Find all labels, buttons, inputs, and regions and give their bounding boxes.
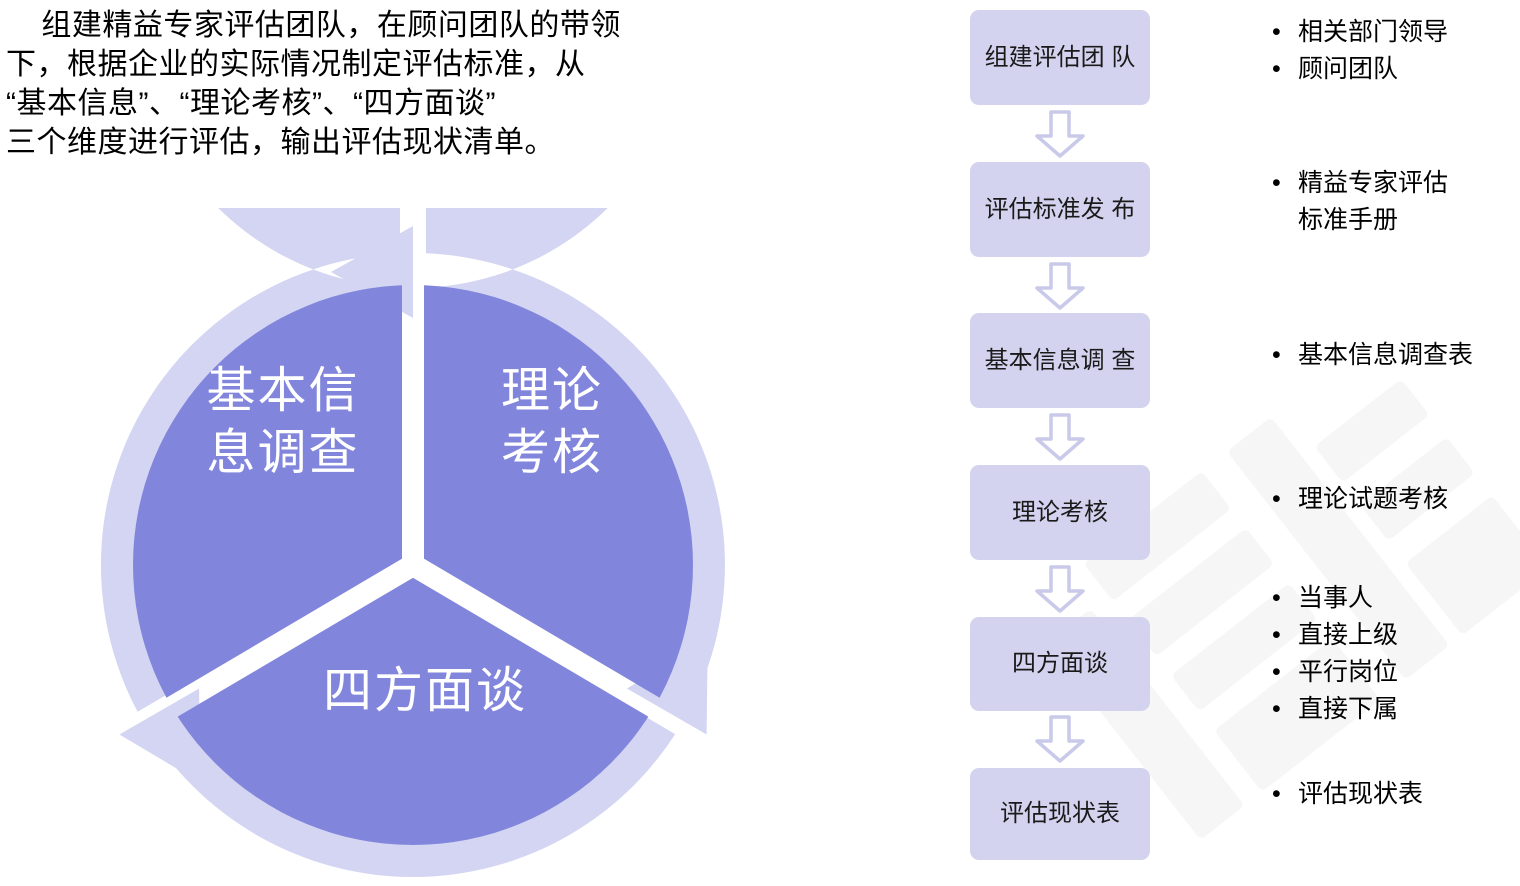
list-item: • 相关部门领导: [1272, 14, 1520, 51]
bullet-icon: •: [1272, 51, 1298, 88]
list-item: • 直接上级: [1272, 617, 1520, 654]
flow-arrow-3-4: [1030, 413, 1090, 461]
list-item: • 理论试题考核: [1272, 481, 1520, 518]
flow-arrow-2-3: [1030, 262, 1090, 310]
flow-arrow-5-6: [1030, 715, 1090, 763]
bullet-group-5: • 当事人 • 直接上级 • 平行岗位 • 直接下属: [1272, 580, 1520, 728]
bullet-icon: •: [1272, 691, 1298, 728]
flow-box-4[interactable]: 理论考核: [970, 465, 1150, 560]
flow-box-3[interactable]: 基本信息调 查: [970, 313, 1150, 408]
flow-box-5[interactable]: 四方面谈: [970, 617, 1150, 711]
bullet-icon: •: [1272, 580, 1298, 617]
list-item: • 直接下属: [1272, 691, 1520, 728]
flow-arrow-1-2: [1030, 110, 1090, 158]
list-item: • 平行岗位: [1272, 654, 1520, 691]
bullet-icon: •: [1272, 481, 1298, 518]
flow-box-2[interactable]: 评估标准发 布: [970, 162, 1150, 257]
bullet-icon: •: [1272, 337, 1298, 374]
list-item: • 评估现状表: [1272, 776, 1520, 813]
bullet-icon: •: [1272, 776, 1298, 813]
list-item: • 基本信息调查表: [1272, 337, 1520, 374]
intro-paragraph: 组建精益专家评估团队，在顾问团队的带领 下，根据企业的实际情况制定评估标准，从 …: [6, 6, 816, 162]
bullet-icon: •: [1272, 165, 1298, 202]
bullet-group-3: • 基本信息调查表: [1272, 337, 1520, 374]
flow-box-6[interactable]: 评估现状表: [970, 768, 1150, 860]
flow-arrow-4-5: [1030, 565, 1090, 613]
bullet-icon: •: [1272, 654, 1298, 691]
slide-canvas: 组建精益专家评估团队，在顾问团队的带领 下，根据企业的实际情况制定评估标准，从 …: [0, 0, 1520, 886]
bullet-group-4: • 理论试题考核: [1272, 481, 1520, 518]
bullet-icon: •: [1272, 14, 1298, 51]
bullet-icon: •: [1272, 617, 1298, 654]
list-item: • 顾问团队: [1272, 51, 1520, 88]
list-item: • 精益专家评估 标准手册: [1272, 165, 1520, 239]
flow-box-1[interactable]: 组建评估团 队: [970, 10, 1150, 105]
bullet-group-2: • 精益专家评估 标准手册: [1272, 165, 1520, 239]
list-item: • 当事人: [1272, 580, 1520, 617]
bullet-group-6: • 评估现状表: [1272, 776, 1520, 813]
bullet-group-1: • 相关部门领导 • 顾问团队: [1272, 14, 1520, 88]
